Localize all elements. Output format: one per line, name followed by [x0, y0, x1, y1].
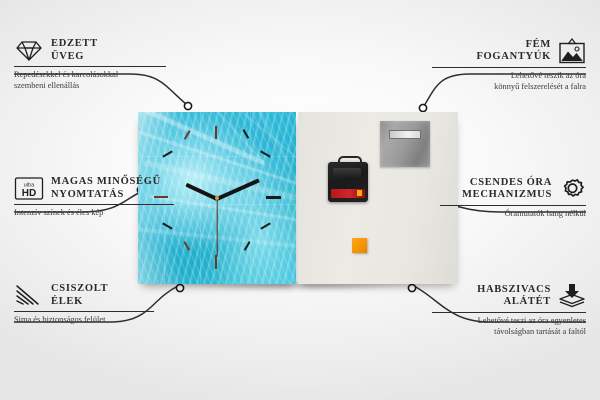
diamond-icon: [14, 39, 44, 63]
foam-pad-icon: [558, 283, 586, 309]
clock-tick: [243, 129, 249, 138]
metal-hanger-plate: [380, 121, 430, 167]
picture-hanger-icon: [558, 38, 586, 64]
feature-title: MAGAS MINŐSÉGŰ NYOMTATÁS: [51, 176, 161, 201]
ultra-hd-icon: ultra HD: [14, 176, 44, 201]
feature-description: Lehetővé teszi az óra egyenletes távolsá…: [432, 316, 586, 337]
product-image: [138, 112, 458, 284]
feature-title: EDZETT ÜVEG: [51, 38, 98, 63]
hanger-slot: [389, 130, 421, 139]
clock-tick: [215, 255, 217, 269]
gear-icon: [559, 176, 586, 202]
feature-csendes-ora-mechanizmus[interactable]: CSENDES ÓRA MECHANIZMUS Óramutatók hang …: [440, 176, 586, 220]
clock-tick: [260, 222, 270, 229]
clock-tick: [266, 196, 281, 199]
feature-title: HABSZIVACS ALÁTÉT: [432, 284, 551, 309]
battery: [331, 189, 365, 198]
clock-pivot: [215, 196, 219, 200]
feature-description: Sima és biztonságos felület: [14, 315, 154, 326]
feature-csiszolt-elek[interactable]: CSISZOLT ÉLEK Sima és biztonságos felüle…: [14, 283, 154, 326]
feature-habszivacs-alatet[interactable]: HABSZIVACS ALÁTÉT Lehetővé teszi az óra …: [432, 283, 586, 337]
feature-rule: [14, 66, 166, 67]
svg-text:HD: HD: [22, 188, 36, 199]
feature-rule: [432, 312, 586, 313]
feature-rule: [432, 67, 586, 68]
feature-edzett-uveg[interactable]: EDZETT ÜVEG Repedésekkel és karcolásokka…: [14, 38, 166, 91]
orange-foam-pad: [352, 238, 367, 253]
quartz-movement: [328, 162, 368, 202]
feature-description: Lehetővé teszik az óra könnyű felszerelé…: [432, 71, 586, 92]
feature-rule: [14, 311, 154, 312]
movement-bail: [338, 156, 362, 166]
feature-description: Óramutatók hang nélkül: [440, 209, 586, 220]
feature-title: CSISZOLT ÉLEK: [51, 283, 108, 308]
feature-title: FÉM FOGANTYÚK: [432, 39, 551, 64]
clock-back-panel: [298, 112, 458, 284]
feature-description: Intenzív színek és éles kép: [14, 208, 174, 219]
movement-body: [333, 168, 361, 178]
feature-magas-minosegu-nyomtatas[interactable]: ultra HD MAGAS MINŐSÉGŰ NYOMTATÁS Intenz…: [14, 176, 174, 219]
connector-dot-fem-fogantyuk: [419, 104, 426, 111]
clock-tick: [215, 126, 217, 139]
infographic-stage: EDZETT ÜVEG Repedésekkel és karcolásokka…: [0, 0, 600, 400]
clock-hand-hour: [185, 183, 218, 201]
clock-hand-second: [216, 199, 217, 257]
clock-tick: [184, 241, 190, 250]
feature-rule: [14, 204, 174, 205]
polished-edges-icon: [14, 284, 44, 308]
feature-description: Repedésekkel és karcolásokkal szembeni e…: [14, 70, 166, 91]
connector-dot-edzett-uveg: [184, 102, 191, 109]
product-shadow: [120, 283, 478, 305]
clock-tick: [184, 130, 190, 139]
feature-rule: [440, 205, 586, 206]
feature-fem-fogantyuk[interactable]: FÉM FOGANTYÚK Lehetővé teszik az óra kön…: [432, 38, 586, 92]
feature-title: CSENDES ÓRA MECHANIZMUS: [440, 177, 552, 202]
